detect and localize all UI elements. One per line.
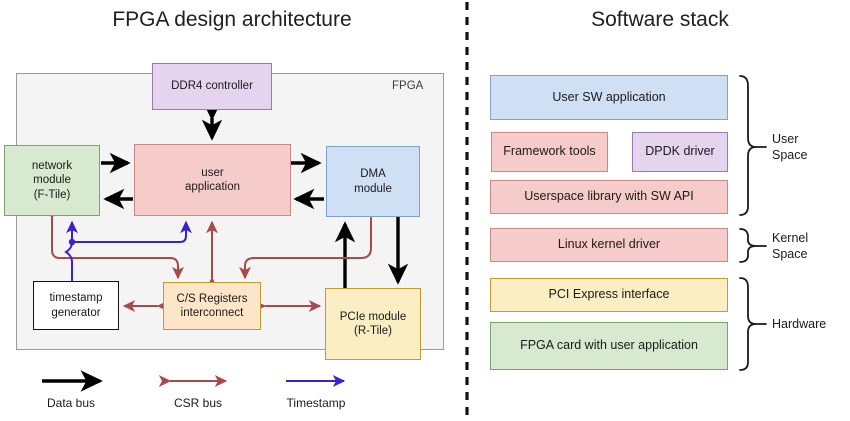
block-network-module-label-2: module — [33, 174, 71, 186]
block-network-module[interactable]: network module (F-Tile) — [4, 145, 100, 216]
diagram-canvas: FPGA design architecture Software stack … — [0, 0, 850, 421]
stack-layer-userspace-library-label: Userspace library with SW API — [521, 189, 697, 205]
stack-layer-fpga-card[interactable]: FPGA card with user application — [490, 322, 728, 370]
block-timestamp-generator-label-1: timestamp — [49, 292, 102, 304]
stack-layer-framework-tools-label: Framework tools — [500, 144, 598, 160]
block-user-application-label-2: application — [185, 181, 240, 193]
stack-layer-fpga-card-label: FPGA card with user application — [517, 338, 701, 354]
stack-layer-userspace-library[interactable]: Userspace library with SW API — [490, 180, 728, 214]
stack-layer-pci-express-interface-label: PCI Express interface — [546, 287, 673, 303]
block-ddr4-controller-label: DDR4 controller — [168, 79, 256, 93]
block-user-application-label-1: user — [201, 167, 223, 179]
stack-layer-dpdk-driver-label: DPDK driver — [642, 144, 717, 160]
stack-layer-dpdk-driver[interactable]: DPDK driver — [632, 132, 728, 172]
stack-layer-user-sw-application-label: User SW application — [549, 90, 668, 106]
group-label-hardware: Hardware — [772, 317, 850, 333]
block-ddr4-controller[interactable]: DDR4 controller — [152, 63, 272, 110]
stack-layer-linux-kernel-driver[interactable]: Linux kernel driver — [490, 228, 728, 262]
legend-label-data-bus: Data bus — [21, 396, 121, 410]
block-pcie-module[interactable]: PCIe module (R-Tile) — [325, 288, 421, 360]
legend-label-csr-bus: CSR bus — [148, 396, 248, 410]
group-label-kernel-space-1: Kernel — [772, 231, 808, 245]
block-pcie-module-label-1: PCIe module — [340, 311, 406, 323]
brace-kernel-space — [740, 229, 756, 262]
block-network-module-label-1: network — [32, 160, 72, 172]
block-cs-registers-label-2: interconnect — [181, 307, 244, 319]
group-label-user-space-2: Space — [772, 148, 807, 162]
stack-layer-pci-express-interface[interactable]: PCI Express interface — [490, 278, 728, 312]
brace-hardware — [740, 278, 756, 370]
group-label-kernel-space-2: Space — [772, 247, 807, 261]
stack-layer-user-sw-application[interactable]: User SW application — [490, 75, 728, 120]
block-pcie-module-label-2: (R-Tile) — [354, 325, 392, 337]
block-timestamp-generator-label-2: generator — [51, 307, 100, 319]
block-user-application[interactable]: user application — [134, 144, 291, 216]
block-dma-module[interactable]: DMA module — [326, 146, 420, 217]
group-label-kernel-space: Kernel Space — [772, 231, 842, 262]
stack-layer-linux-kernel-driver-label: Linux kernel driver — [555, 237, 663, 253]
block-dma-module-label-1: DMA — [360, 168, 386, 180]
legend-label-timestamp: Timestamp — [264, 396, 368, 410]
block-network-module-label-3: (F-Tile) — [34, 189, 71, 201]
block-dma-module-label-2: module — [354, 183, 392, 195]
brace-user-space — [740, 76, 756, 215]
group-label-user-space-1: User — [772, 132, 798, 146]
group-label-hardware-1: Hardware — [772, 317, 826, 331]
stack-layer-framework-tools[interactable]: Framework tools — [491, 132, 608, 172]
block-timestamp-generator[interactable]: timestamp generator — [33, 281, 119, 330]
block-cs-registers-interconnect[interactable]: C/S Registers interconnect — [163, 282, 261, 330]
block-cs-registers-label-1: C/S Registers — [177, 293, 248, 305]
group-label-user-space: User Space — [772, 132, 842, 163]
